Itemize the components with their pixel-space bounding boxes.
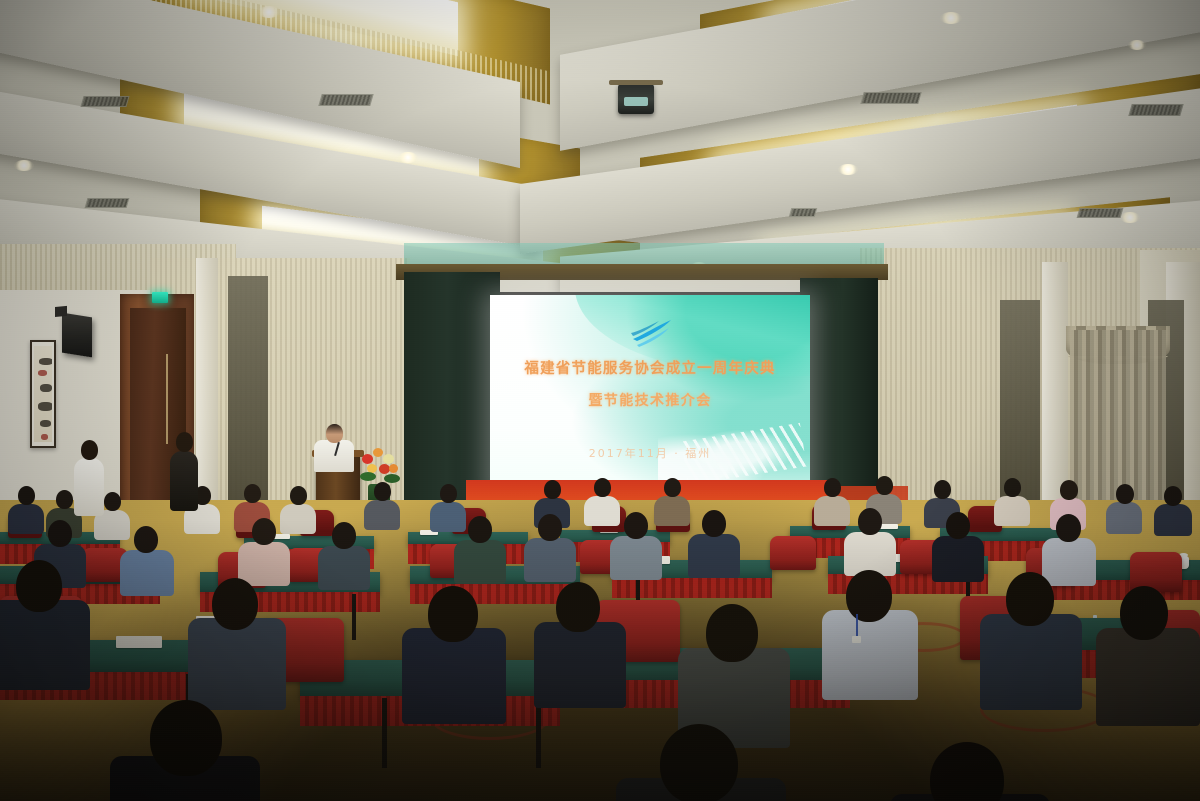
flower-petal [389,464,398,473]
flower-petal [373,448,383,457]
air-vent [85,198,130,208]
attendee-head [290,486,307,505]
wall-mounted-speaker [62,313,92,358]
attendee-head [212,578,258,630]
attendee-head [664,478,681,497]
attendee-head [16,560,62,612]
door-gap-light [166,354,168,444]
attendee-head [1116,484,1134,504]
presenter-at-podium [314,440,354,472]
attendee-head [846,570,892,622]
attendee-torso [364,500,400,530]
attendee-torso [0,600,90,690]
attendee-head [624,512,648,539]
attendee-head [594,478,611,497]
ink-stroke [38,370,47,376]
attendee-torso [120,550,174,596]
ink-stroke [39,358,52,365]
recessed-downlight [1120,212,1140,223]
attendee-torso [1106,502,1142,534]
attendee-head [48,520,72,547]
attendee-torso [932,536,984,582]
staff-head [81,440,98,460]
conference-hall-photo: 福建省节能服务协会成立一周年庆典 暨节能技术推介会 2017年11月 · 福州 [0,0,1200,801]
attendee-head [824,478,841,497]
attendee-torso [318,546,370,590]
table-leg [382,698,387,768]
flower-petal [383,454,394,464]
recessed-downlight [940,12,962,24]
attendee-head [1004,478,1021,497]
screen-title: 福建省节能服务协会成立一周年庆典 [490,357,810,378]
ceiling-projector [618,84,654,114]
attendee-head [244,484,261,503]
attendee-torso [524,538,576,582]
staff-head [176,432,193,452]
attendee-head [1056,514,1081,542]
attendee-torso [1042,538,1096,586]
attendee-torso [814,496,850,526]
attendee-torso [280,504,316,534]
name-badge [852,636,861,643]
attendee-torso [188,618,286,710]
attendee-head [18,486,35,505]
attendee-torso [454,540,506,584]
attendee-head [1164,486,1182,506]
screen-subtitle: 暨节能技术推介会 [490,390,810,410]
ink-stroke [40,420,51,427]
presenter-head [326,424,343,443]
table-leg [536,698,541,768]
attendee-torso [430,502,466,532]
attendee-head [134,526,158,553]
wall-niche-1 [228,276,268,516]
attendee-torso [8,504,44,534]
attendee-head [544,480,561,499]
air-vent [318,94,373,106]
association-wing-logo [629,317,675,349]
emergency-exit-sign [152,292,168,303]
attendee-torso [654,496,690,526]
handout-paper [880,524,898,529]
staff-torso [74,458,104,516]
attendee-head [876,476,893,495]
attendee-torso [238,542,290,586]
banquet-chair [770,536,816,570]
attendee-head [104,492,121,511]
recessed-downlight [1128,40,1146,50]
screen-date-location: 2017年11月 · 福州 [490,445,810,461]
recessed-downlight [14,160,34,171]
framed-calligraphy-scroll [30,340,56,448]
attendee-head [706,604,758,662]
flower-petal [362,454,373,464]
ink-stroke [40,384,52,392]
recessed-downlight [838,164,858,175]
lanyard-strap [856,614,858,638]
attendee-head [150,700,222,776]
attendee-torso [688,534,740,578]
projection-screen: 福建省节能服务协会成立一周年庆典 暨节能技术推介会 2017年11月 · 福州 [490,295,810,500]
handout-paper [116,636,162,648]
staff-torso [170,451,198,511]
air-vent [1128,104,1183,116]
ink-stroke [41,434,48,440]
attendee-torso [822,610,918,700]
attendee-head [858,508,882,535]
flower-leaf [360,472,376,481]
attendee-head [934,480,951,499]
attendee-head [468,516,492,543]
attendee-head [1060,480,1078,500]
air-vent [1077,208,1124,218]
air-vent [860,92,921,104]
recessed-downlight [258,6,280,18]
attendee-head [1120,586,1168,640]
ink-stroke [38,402,52,411]
attendee-head [428,586,478,642]
attendee-torso [610,536,662,580]
scroll-artwork [34,346,52,442]
air-vent [789,208,818,217]
attendee-head [702,510,726,537]
table-leg [352,594,356,640]
attendee-torso [1096,628,1200,726]
attendee-head [538,514,562,541]
attendee-torso [402,628,506,724]
attendee-head [252,518,276,545]
attendee-torso [1154,504,1192,536]
attendee-head [660,724,738,801]
air-vent [80,96,129,107]
attendee-head [374,482,391,501]
attendee-head [332,522,356,549]
attendee-torso [980,614,1082,710]
recessed-downlight [398,152,418,163]
screen-background-swoosh [575,295,810,400]
attendee-head [946,512,970,539]
attendee-torso [584,496,620,526]
flower-leaf [384,474,400,483]
attendee-head [556,582,600,632]
attendee-head [440,484,457,503]
attendee-torso [994,496,1030,526]
attendee-torso [534,622,626,708]
attendee-head [1006,572,1054,626]
attendee-head [56,490,73,509]
